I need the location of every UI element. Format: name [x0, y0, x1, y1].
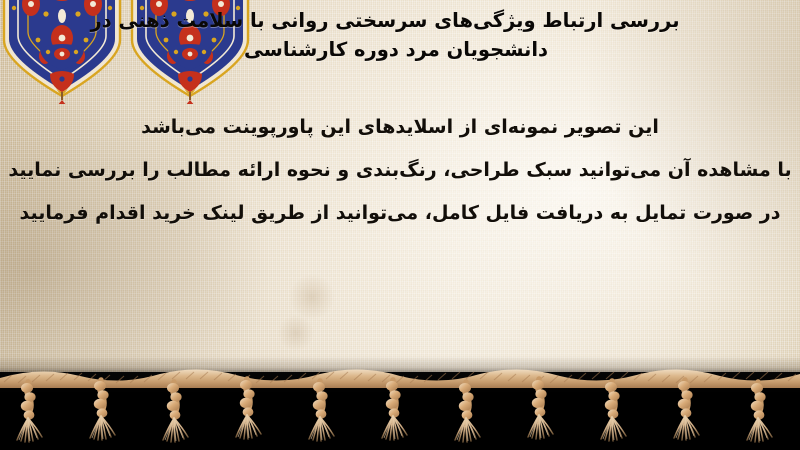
slide-body: این تصویر نمونه‌ای از اسلایدهای این پاور… — [0, 106, 800, 235]
title-line-1: بررسی ارتباط ویژگی‌های سرسختی روانی با س… — [10, 6, 786, 35]
title-line-2: دانشجویان مرد دوره کارشناسی — [10, 35, 786, 64]
presentation-slide: بررسی ارتباط ویژگی‌های سرسختی روانی با س… — [0, 0, 800, 450]
body-line-3: در صورت تمایل به دریافت فایل کامل، می‌تو… — [0, 192, 800, 235]
body-line-1: این تصویر نمونه‌ای از اسلایدهای این پاور… — [0, 106, 800, 149]
bottom-black-band — [0, 372, 800, 450]
slide-title: بررسی ارتباط ویژگی‌های سرسختی روانی با س… — [0, 6, 800, 64]
body-line-2: با مشاهده آن می‌توانید سبک طراحی، رنگ‌بن… — [0, 149, 800, 192]
